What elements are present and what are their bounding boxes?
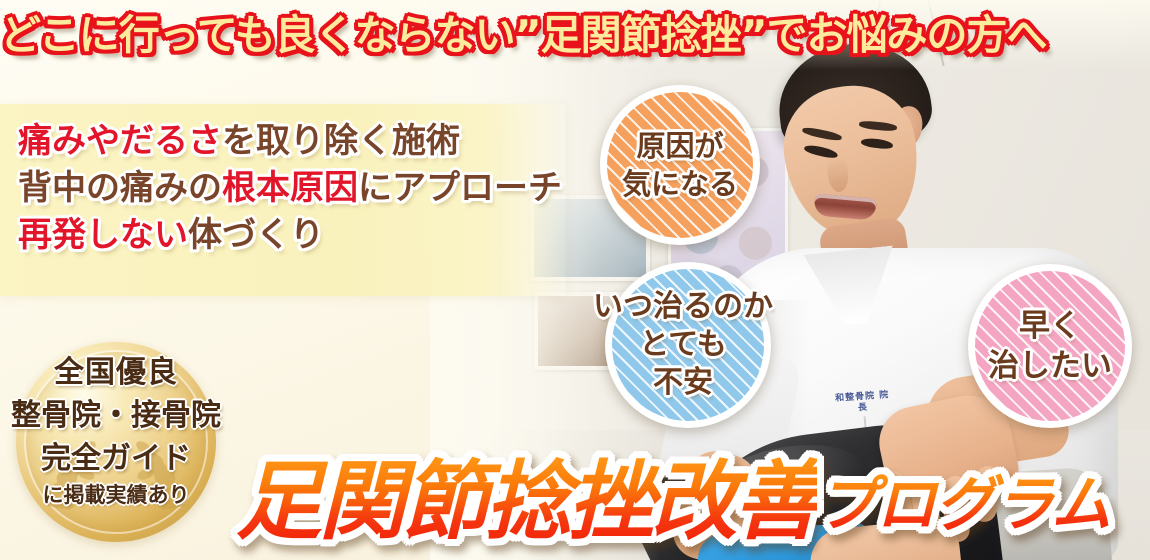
bubble-cause-line-2: 気になる <box>622 165 738 203</box>
bubble-heal-fast-line-2: 治したい <box>988 346 1112 386</box>
program-title: 足関節捻挫改善プログラム <box>236 452 1150 552</box>
award-medallion: 全国優良 整骨院・接骨院 完全ガイド に掲載実績あり <box>2 342 230 548</box>
medallion-line-4: に掲載実績あり <box>2 480 230 510</box>
bubble-anxiety-line-1: いつ治るのか <box>593 288 773 326</box>
medallion-line-2: 整骨院・接骨院 <box>2 394 230 437</box>
medallion-line-1: 全国優良 <box>2 352 230 394</box>
benefit-3-rest: 体づくり <box>188 215 324 255</box>
benefits-text-block: 痛みやだるさを取り除く施術 背中の痛みの根本原因にアプローチ 再発しない体づくり <box>18 118 578 259</box>
bubble-heal-fast: 早く 治したい <box>968 264 1132 428</box>
bubble-cause: 原因が 気になる <box>600 85 760 245</box>
bubble-anxiety: いつ治るのか とても 不安 <box>605 262 771 428</box>
benefit-3-emphasis: 再発しない <box>18 215 188 255</box>
bubble-cause-line-1: 原因が <box>622 127 738 165</box>
benefit-1-emphasis: 痛みやだるさ <box>18 121 222 161</box>
bubble-heal-fast-line-1: 早く <box>988 306 1112 346</box>
benefit-2-lead: 背中の痛みの <box>18 168 222 208</box>
benefit-line-1: 痛みやだるさを取り除く施術 <box>18 118 578 165</box>
bubble-anxiety-text: いつ治るのか とても 不安 <box>593 288 773 402</box>
benefit-2-emphasis: 根本原因 <box>222 168 358 208</box>
clinic-hero-banner: 和整骨院 院長 どこに行っても良くならない”足関節捻挫”でお悩みの方へ 痛みやだ… <box>0 0 1150 560</box>
benefit-1-rest: を取り除く施術 <box>222 121 460 161</box>
bubble-cause-text: 原因が 気になる <box>622 127 738 203</box>
medallion-line-3: 完全ガイド <box>2 437 230 480</box>
bubble-anxiety-line-2: とても <box>593 326 773 364</box>
program-title-main: 足関節捻挫改善 <box>236 452 817 552</box>
program-title-sub: プログラム <box>817 470 1110 540</box>
medallion-text: 全国優良 整骨院・接骨院 完全ガイド に掲載実績あり <box>2 352 230 510</box>
bubble-anxiety-line-3: 不安 <box>593 364 773 402</box>
benefit-line-2: 背中の痛みの根本原因にアプローチ <box>18 165 578 212</box>
benefit-line-3: 再発しない体づくり <box>18 212 578 259</box>
bubble-heal-fast-text: 早く 治したい <box>988 306 1112 386</box>
page-headline: どこに行っても良くならない”足関節捻挫”でお悩みの方へ <box>0 6 1000 66</box>
benefit-2-tail: にアプローチ <box>358 168 562 208</box>
